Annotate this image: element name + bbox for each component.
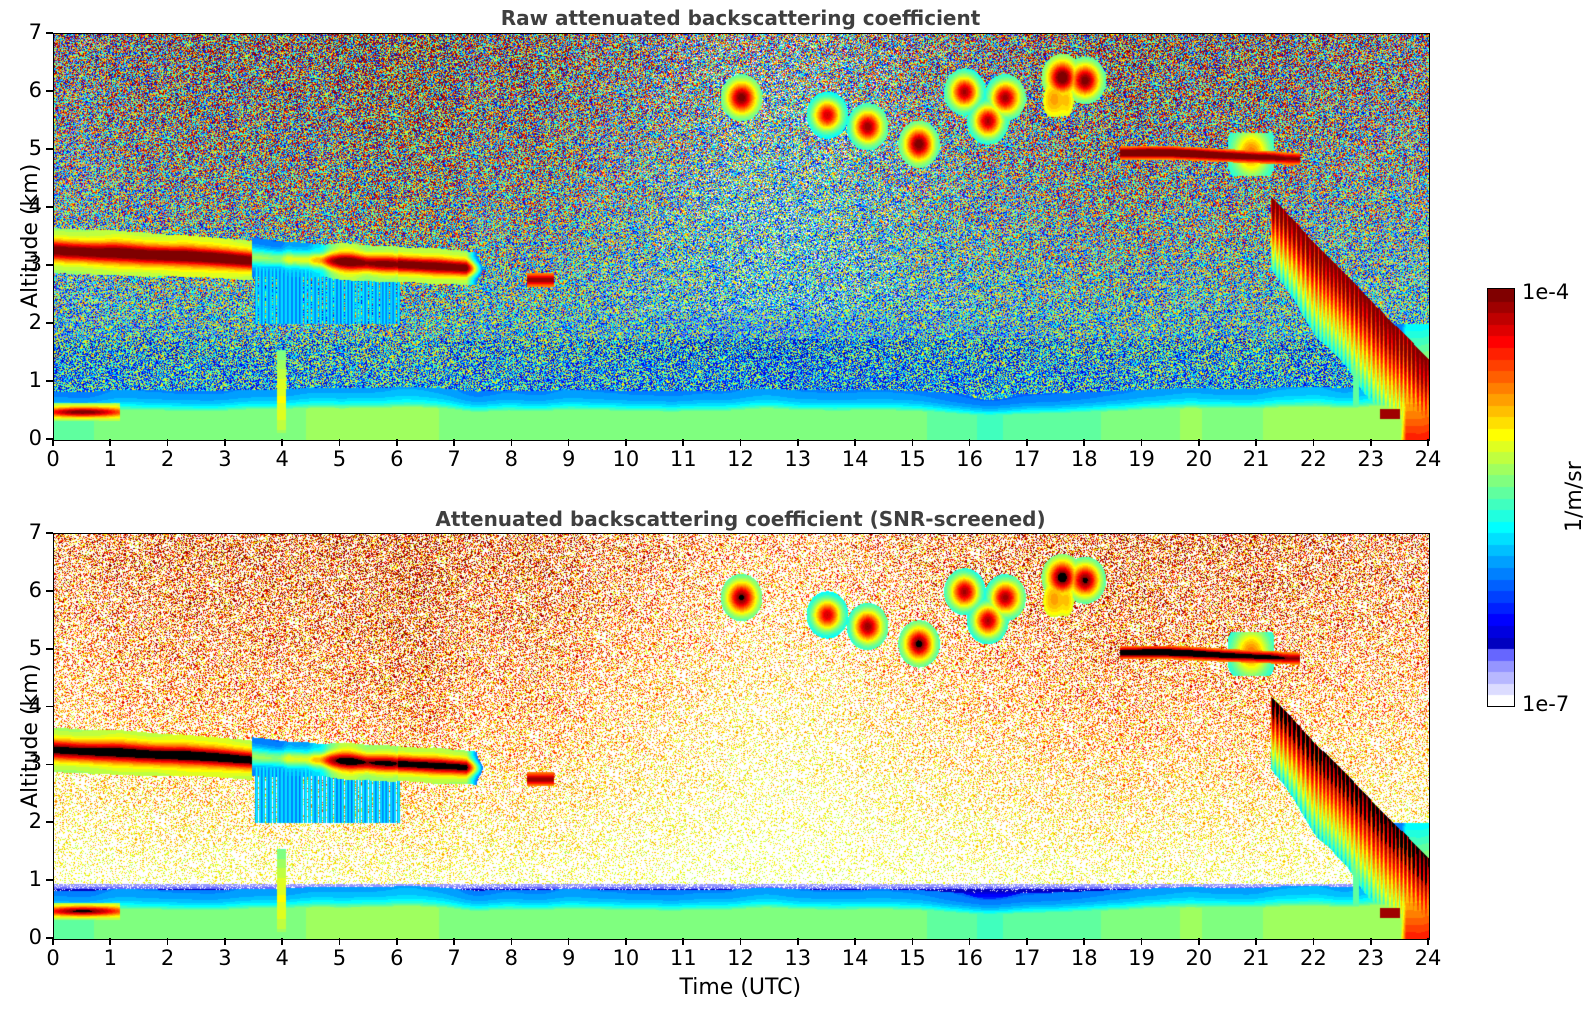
- x-tickmark: [1255, 938, 1257, 945]
- y-tick-label-raw-3: 3: [8, 254, 42, 275]
- x-tickmark: [396, 938, 398, 945]
- y-tickmark: [46, 764, 53, 766]
- y-tickmark: [46, 148, 53, 150]
- x-tickmark: [912, 439, 914, 446]
- y-axis-label-raw: Altitude (km): [18, 164, 43, 308]
- y-tickmark: [46, 90, 53, 92]
- x-tick-label-raw-11: 11: [663, 449, 703, 470]
- x-tick-label-scr-3: 3: [205, 948, 245, 969]
- x-tick-label-raw-16: 16: [950, 449, 990, 470]
- x-tickmark: [568, 439, 570, 446]
- x-tick-label-scr-6: 6: [377, 948, 417, 969]
- x-tickmark: [1427, 439, 1429, 446]
- x-tickmark: [969, 938, 971, 945]
- x-tickmark: [1026, 938, 1028, 945]
- x-tickmark: [339, 439, 341, 446]
- x-tickmark: [568, 938, 570, 945]
- y-tickmark: [46, 264, 53, 266]
- x-tickmark: [1083, 439, 1085, 446]
- x-tickmark: [167, 938, 169, 945]
- x-tickmark: [1313, 439, 1315, 446]
- x-tickmark: [511, 439, 513, 446]
- x-tickmark: [167, 439, 169, 446]
- x-tick-label-scr-14: 14: [835, 948, 875, 969]
- x-tickmark: [797, 938, 799, 945]
- x-tick-label-raw-14: 14: [835, 449, 875, 470]
- x-tick-label-raw-7: 7: [434, 449, 474, 470]
- y-tickmark: [46, 821, 53, 823]
- x-tickmark: [1198, 439, 1200, 446]
- heatmap-canvas-raw: [54, 34, 1429, 440]
- y-tick-label-scr-3: 3: [8, 753, 42, 774]
- x-tickmark: [1026, 439, 1028, 446]
- x-tickmark: [1313, 938, 1315, 945]
- x-tickmark: [797, 439, 799, 446]
- x-tickmark: [854, 439, 856, 446]
- panel-title-raw: Raw attenuated backscattering coefficien…: [0, 6, 1481, 30]
- y-tick-label-raw-4: 4: [8, 196, 42, 217]
- y-tick-label-scr-7: 7: [8, 522, 42, 543]
- x-tick-label-raw-2: 2: [148, 449, 188, 470]
- y-tick-label-scr-1: 1: [8, 869, 42, 890]
- x-tickmark: [682, 439, 684, 446]
- x-tickmark: [625, 439, 627, 446]
- y-tick-label-raw-0: 0: [8, 428, 42, 449]
- x-tick-label-scr-8: 8: [491, 948, 531, 969]
- x-tick-label-raw-8: 8: [491, 449, 531, 470]
- y-tick-label-scr-2: 2: [8, 811, 42, 832]
- x-tick-label-raw-0: 0: [33, 449, 73, 470]
- x-tickmark: [740, 938, 742, 945]
- y-tick-label-raw-1: 1: [8, 370, 42, 391]
- y-tickmark: [46, 532, 53, 534]
- y-tickmark: [46, 32, 53, 34]
- x-tick-label-scr-7: 7: [434, 948, 474, 969]
- x-tickmark: [1083, 938, 1085, 945]
- y-tick-label-raw-2: 2: [8, 312, 42, 333]
- y-tick-label-raw-5: 5: [8, 138, 42, 159]
- x-tickmark: [1141, 938, 1143, 945]
- x-tickmark: [1370, 938, 1372, 945]
- x-tick-label-raw-22: 22: [1293, 449, 1333, 470]
- x-tick-label-raw-9: 9: [549, 449, 589, 470]
- x-tick-label-scr-1: 1: [90, 948, 130, 969]
- x-tick-label-raw-5: 5: [319, 449, 359, 470]
- x-tickmark: [52, 938, 54, 945]
- x-tick-label-raw-13: 13: [778, 449, 818, 470]
- x-tickmark: [625, 938, 627, 945]
- x-tick-label-scr-21: 21: [1236, 948, 1276, 969]
- x-tick-label-raw-15: 15: [892, 449, 932, 470]
- x-tickmark: [339, 938, 341, 945]
- x-tick-label-scr-0: 0: [33, 948, 73, 969]
- x-tickmark: [52, 439, 54, 446]
- x-tickmark: [109, 938, 111, 945]
- x-tickmark: [682, 938, 684, 945]
- colorbar-min-label: 1e-7: [1522, 692, 1569, 716]
- x-tickmark: [453, 439, 455, 446]
- colorbar-canvas: [1488, 289, 1514, 706]
- y-tickmark: [46, 380, 53, 382]
- x-tick-label-raw-18: 18: [1064, 449, 1104, 470]
- x-tickmark: [453, 938, 455, 945]
- x-tick-label-scr-19: 19: [1122, 948, 1162, 969]
- x-tickmark: [511, 938, 513, 945]
- x-tick-label-raw-10: 10: [606, 449, 646, 470]
- y-tickmark: [46, 590, 53, 592]
- x-tickmark: [1370, 439, 1372, 446]
- x-tick-label-raw-1: 1: [90, 449, 130, 470]
- heatmap-canvas-screened: [54, 534, 1429, 939]
- x-tickmark: [854, 938, 856, 945]
- y-tickmark: [46, 706, 53, 708]
- x-tickmark: [969, 439, 971, 446]
- colorbar-unit-label: 1/m/sr: [1562, 461, 1587, 532]
- y-tickmark: [46, 879, 53, 881]
- x-tick-label-raw-4: 4: [262, 449, 302, 470]
- y-tick-label-scr-4: 4: [8, 696, 42, 717]
- x-tickmark: [912, 938, 914, 945]
- y-tick-label-scr-5: 5: [8, 638, 42, 659]
- x-tickmark: [396, 439, 398, 446]
- x-tickmark: [224, 938, 226, 945]
- x-tickmark: [1141, 439, 1143, 446]
- x-tick-label-raw-19: 19: [1122, 449, 1162, 470]
- x-tick-label-scr-12: 12: [721, 948, 761, 969]
- x-tick-label-raw-20: 20: [1179, 449, 1219, 470]
- x-tick-label-scr-13: 13: [778, 948, 818, 969]
- x-tick-label-scr-4: 4: [262, 948, 302, 969]
- x-tick-label-raw-24: 24: [1408, 449, 1448, 470]
- x-tickmark: [109, 439, 111, 446]
- x-tick-label-scr-10: 10: [606, 948, 646, 969]
- x-tick-label-scr-24: 24: [1408, 948, 1448, 969]
- y-tick-label-raw-6: 6: [8, 80, 42, 101]
- plot-area-screened[interactable]: [53, 533, 1430, 940]
- x-tick-label-raw-21: 21: [1236, 449, 1276, 470]
- x-tick-label-scr-2: 2: [148, 948, 188, 969]
- x-tickmark: [224, 439, 226, 446]
- colorbar-max-label: 1e-4: [1522, 280, 1569, 304]
- x-tick-label-scr-18: 18: [1064, 948, 1104, 969]
- x-tickmark: [1255, 439, 1257, 446]
- x-tick-label-scr-23: 23: [1351, 948, 1391, 969]
- x-tickmark: [1427, 938, 1429, 945]
- y-axis-label-screened: Altitude (km): [18, 663, 43, 807]
- x-tick-label-raw-23: 23: [1351, 449, 1391, 470]
- x-tick-label-raw-12: 12: [721, 449, 761, 470]
- x-tickmark: [281, 938, 283, 945]
- y-tickmark: [46, 206, 53, 208]
- lidar-figure: Raw attenuated backscattering coefficien…: [0, 0, 1595, 1020]
- x-tick-label-scr-11: 11: [663, 948, 703, 969]
- y-tickmark: [46, 648, 53, 650]
- y-tick-label-scr-6: 6: [8, 580, 42, 601]
- x-tick-label-scr-15: 15: [892, 948, 932, 969]
- x-axis-label-time: Time (UTC): [680, 975, 802, 1000]
- x-tickmark: [740, 439, 742, 446]
- x-tick-label-scr-9: 9: [549, 948, 589, 969]
- x-tick-label-raw-3: 3: [205, 449, 245, 470]
- panel-title-screened: Attenuated backscattering coefficient (S…: [0, 507, 1481, 531]
- x-tick-label-scr-20: 20: [1179, 948, 1219, 969]
- x-tick-label-raw-17: 17: [1007, 449, 1047, 470]
- y-tick-label-raw-7: 7: [8, 22, 42, 43]
- x-tick-label-raw-6: 6: [377, 449, 417, 470]
- x-tickmark: [281, 439, 283, 446]
- x-tick-label-scr-17: 17: [1007, 948, 1047, 969]
- x-tickmark: [1198, 938, 1200, 945]
- x-tick-label-scr-5: 5: [319, 948, 359, 969]
- x-tick-label-scr-16: 16: [950, 948, 990, 969]
- colorbar[interactable]: [1487, 288, 1515, 707]
- plot-area-raw[interactable]: [53, 33, 1430, 441]
- y-tickmark: [46, 322, 53, 324]
- y-tick-label-scr-0: 0: [8, 927, 42, 948]
- x-tick-label-scr-22: 22: [1293, 948, 1333, 969]
